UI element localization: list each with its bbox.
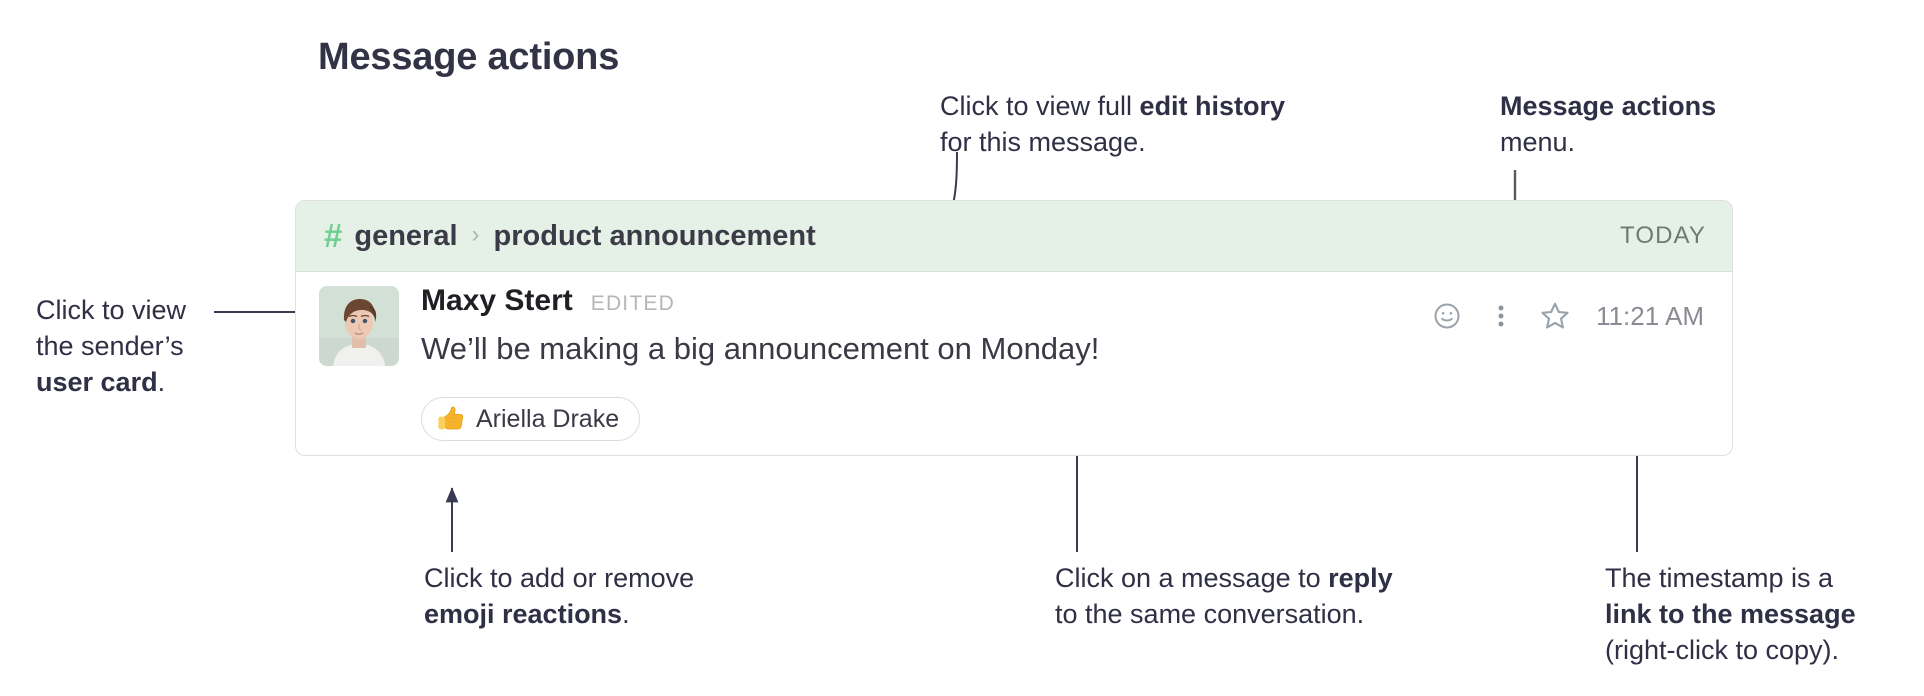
annot-bold: Message actions <box>1500 91 1716 121</box>
thumbs-up-emoji-icon <box>436 404 466 434</box>
annot-bold: link to the message <box>1605 599 1856 629</box>
annot-suffix: for this message. <box>940 127 1146 157</box>
date-label: TODAY <box>1620 222 1706 250</box>
channel-header-bar: # general › product announcement TODAY <box>296 201 1732 272</box>
channel-name[interactable]: general <box>354 220 457 253</box>
edited-badge[interactable]: EDITED <box>591 292 675 316</box>
topic-name[interactable]: product announcement <box>494 220 816 253</box>
user-card-annotation: Click to view the sender’s user card. <box>36 292 276 400</box>
chevron-right-icon: › <box>472 221 480 249</box>
annot-suffix: . <box>622 599 630 629</box>
star-outline-icon[interactable] <box>1528 294 1582 338</box>
message-timestamp[interactable]: 11:21 AM <box>1596 301 1704 332</box>
emoji-reactions-annotation: Click to add or remove emoji reactions. <box>424 560 824 632</box>
page-title: Message actions <box>318 36 619 79</box>
avatar[interactable] <box>319 286 399 366</box>
sender-name[interactable]: Maxy Stert <box>421 284 573 318</box>
emoji-reaction-icon[interactable] <box>1420 294 1474 338</box>
message-actions[interactable]: 11:21 AM <box>1420 294 1704 338</box>
message-card: # general › product announcement TODAY <box>295 200 1733 456</box>
annot-prefix: Click on a message to <box>1055 563 1328 593</box>
reply-annotation: Click on a message to reply to the same … <box>1055 560 1475 632</box>
hash-icon: # <box>324 219 342 252</box>
edit-history-annotation: Click to view full edit history for this… <box>940 88 1370 160</box>
annot-bold: user card <box>36 367 158 397</box>
annot-bold: emoji reactions <box>424 599 622 629</box>
annot-suffix: . <box>158 367 166 397</box>
ellipsis-vertical-icon[interactable] <box>1474 294 1528 338</box>
annot-prefix: Click to view full <box>940 91 1140 121</box>
annot-prefix: Click to view the sender’s <box>36 295 186 361</box>
annot-prefix: Click to add or remove <box>424 563 694 593</box>
timestamp-annotation: The timestamp is a link to the message (… <box>1605 560 1924 668</box>
annot-suffix: menu. <box>1500 127 1575 157</box>
reaction-user-name: Ariella Drake <box>476 405 619 434</box>
annot-suffix: (right-click to copy). <box>1605 635 1839 665</box>
annot-bold: reply <box>1328 563 1393 593</box>
message-row[interactable]: Maxy Stert EDITED We’ll be making a big … <box>296 272 1732 455</box>
message-actions-menu-annotation: Message actions menu. <box>1500 88 1830 160</box>
annot-prefix: The timestamp is a <box>1605 563 1833 593</box>
annot-bold: edit history <box>1140 91 1286 121</box>
emoji-reaction-pill[interactable]: Ariella Drake <box>421 397 640 441</box>
annot-suffix: to the same conversation. <box>1055 599 1364 629</box>
avatar-image <box>319 286 399 366</box>
